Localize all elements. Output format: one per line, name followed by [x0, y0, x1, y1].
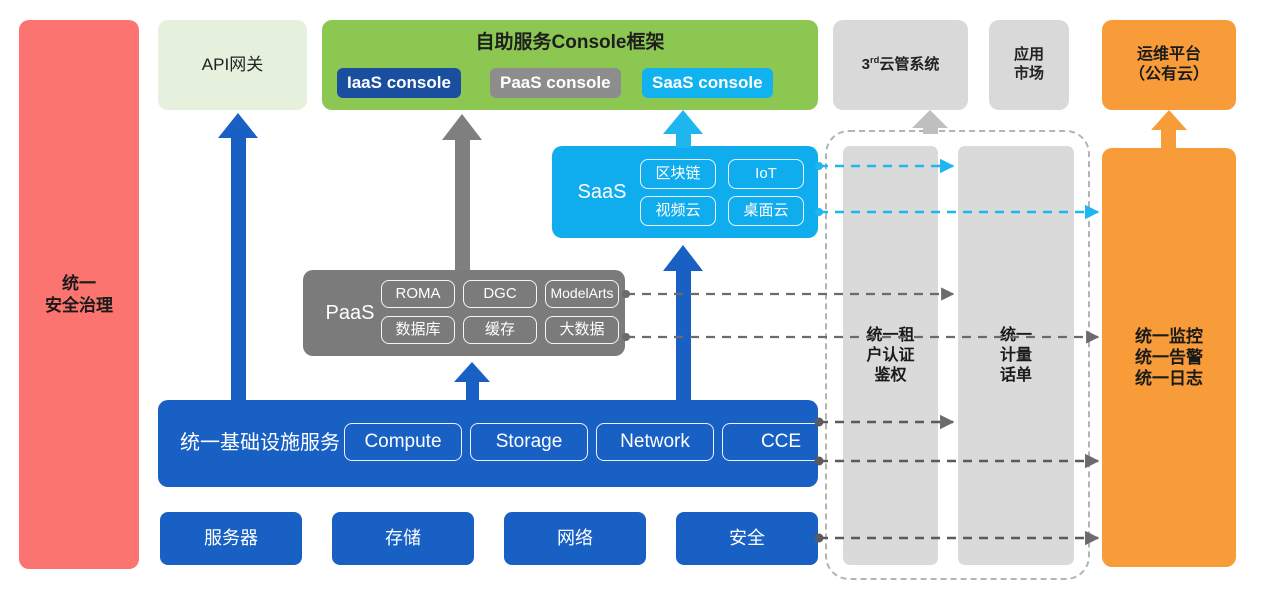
- third-party-prefix: 3: [862, 56, 870, 73]
- saas-item-desktop-cloud[interactable]: 桌面云: [728, 196, 804, 226]
- third-party-suffix: 云管系统: [879, 56, 939, 73]
- arrow-infra-to-api-gateway: [218, 113, 258, 400]
- metering-line3: 话单: [1000, 366, 1032, 386]
- ops-panel-line1: 统一监控: [1135, 326, 1203, 347]
- tenant-auth-line3: 鉴权: [874, 366, 906, 386]
- paas-item-dgc[interactable]: DGC: [463, 280, 537, 308]
- infra-item-cce[interactable]: CCE: [722, 423, 840, 461]
- architecture-diagram: 统一 安全治理 API网关 自助服务Console框架 IaaS console…: [0, 0, 1265, 605]
- hardware-storage-box[interactable]: 存储: [332, 512, 474, 565]
- unified-tenant-auth-column[interactable]: 统一租 户认证 鉴权: [843, 146, 938, 565]
- infrastructure-label: 统一基础设施服务: [170, 427, 350, 459]
- ops-platform-box[interactable]: 运维平台 （公有云）: [1102, 20, 1236, 110]
- hardware-storage-label: 存储: [385, 527, 421, 550]
- ops-panel-line3: 统一日志: [1135, 368, 1203, 389]
- infra-item-cce-label: CCE: [761, 430, 801, 454]
- saas-box: SaaS 区块链 IoT 视频云 桌面云: [552, 146, 818, 238]
- arrow-infra-to-paas: [454, 362, 490, 401]
- infra-item-network[interactable]: Network: [596, 423, 714, 461]
- saas-item-desktop-cloud-label: 桌面云: [743, 202, 788, 221]
- ops-platform-line1: 运维平台: [1137, 45, 1201, 65]
- api-gateway-label: API网关: [202, 54, 263, 75]
- saas-item-video-cloud-label: 视频云: [655, 202, 700, 221]
- app-market-box[interactable]: 应用 市场: [989, 20, 1069, 110]
- infra-item-compute[interactable]: Compute: [344, 423, 462, 461]
- third-party-cloud-mgmt-label: 3rd云管系统: [862, 55, 940, 75]
- saas-item-iot[interactable]: IoT: [728, 159, 804, 189]
- infrastructure-bar: 统一基础设施服务 Compute Storage Network CCE: [158, 400, 818, 487]
- arrow-monitoring-to-ops-platform: [1151, 110, 1187, 148]
- hardware-security-box[interactable]: 安全: [676, 512, 818, 565]
- console-framework-box: 自助服务Console框架 IaaS console PaaS console …: [322, 20, 818, 110]
- hardware-security-label: 安全: [729, 527, 765, 550]
- infra-item-network-label: Network: [620, 430, 690, 454]
- unified-monitoring-panel: 统一监控 统一告警 统一日志: [1102, 148, 1236, 567]
- saas-item-blockchain-label: 区块链: [655, 165, 700, 184]
- metering-line2: 计量: [1000, 346, 1032, 366]
- infra-item-storage[interactable]: Storage: [470, 423, 588, 461]
- ops-panel-line2: 统一告警: [1135, 347, 1203, 368]
- paas-item-cache[interactable]: 缓存: [463, 316, 537, 344]
- hardware-server-label: 服务器: [204, 527, 258, 550]
- arrow-saas-to-console: [663, 110, 703, 148]
- unified-security-panel: 统一 安全治理: [19, 20, 139, 569]
- paas-item-roma-label: ROMA: [396, 285, 441, 304]
- paas-item-bigdata-label: 大数据: [559, 321, 604, 340]
- paas-item-database-label: 数据库: [395, 321, 440, 340]
- security-label-line1: 统一: [62, 273, 96, 294]
- saas-item-video-cloud[interactable]: 视频云: [640, 196, 716, 226]
- console-framework-title: 自助服务Console框架: [476, 31, 665, 55]
- infra-item-storage-label: Storage: [496, 430, 563, 454]
- ops-platform-line2: （公有云）: [1129, 65, 1209, 85]
- paas-console-label: PaaS console: [500, 72, 611, 93]
- app-market-line1: 应用: [1014, 46, 1044, 65]
- paas-item-cache-label: 缓存: [485, 321, 515, 340]
- saas-console-label: SaaS console: [652, 72, 763, 93]
- iaas-console-chip[interactable]: IaaS console: [337, 68, 461, 98]
- paas-console-chip[interactable]: PaaS console: [490, 68, 621, 98]
- arrow-paas-to-console: [442, 114, 482, 270]
- hardware-server-box[interactable]: 服务器: [160, 512, 302, 565]
- hardware-network-box[interactable]: 网络: [504, 512, 646, 565]
- metering-line1: 统一: [1000, 326, 1032, 346]
- paas-item-dgc-label: DGC: [483, 285, 516, 304]
- third-party-sup: rd: [870, 55, 879, 65]
- paas-item-modelarts[interactable]: ModelArts: [545, 280, 619, 308]
- saas-item-blockchain[interactable]: 区块链: [640, 159, 716, 189]
- app-market-line2: 市场: [1014, 65, 1044, 84]
- paas-item-roma[interactable]: ROMA: [381, 280, 455, 308]
- saas-console-chip[interactable]: SaaS console: [642, 68, 773, 98]
- arrow-infra-to-saas: [663, 245, 703, 401]
- third-party-cloud-mgmt-box[interactable]: 3rd云管系统: [833, 20, 968, 110]
- console-framework-title-wrap: 自助服务Console框架: [322, 28, 818, 58]
- paas-box: PaaS ROMA DGC ModelArts 数据库 缓存 大数据: [303, 270, 625, 356]
- unified-metering-column[interactable]: 统一 计量 话单: [958, 146, 1074, 565]
- paas-item-modelarts-label: ModelArts: [550, 285, 613, 303]
- tenant-auth-line2: 户认证: [866, 346, 914, 366]
- tenant-auth-line1: 统一租: [866, 326, 914, 346]
- infra-item-compute-label: Compute: [364, 430, 441, 454]
- paas-item-bigdata[interactable]: 大数据: [545, 316, 619, 344]
- saas-label: SaaS: [562, 176, 642, 208]
- api-gateway-box[interactable]: API网关: [158, 20, 307, 110]
- iaas-console-label: IaaS console: [347, 72, 451, 93]
- paas-label: PaaS: [311, 297, 389, 329]
- paas-item-database[interactable]: 数据库: [381, 316, 455, 344]
- hardware-network-label: 网络: [557, 527, 593, 550]
- saas-item-iot-label: IoT: [755, 165, 777, 184]
- security-label-line2: 安全治理: [45, 295, 113, 316]
